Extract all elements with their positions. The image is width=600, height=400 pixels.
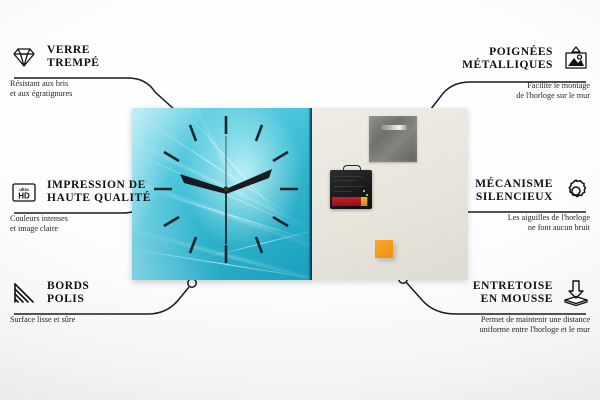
feature-bords-polis: BORDS POLIS Surface lisse et sûre — [10, 276, 200, 325]
feature-subtitle: Couleurs intenses et image claire — [10, 214, 200, 234]
polished-edge-icon — [10, 279, 38, 307]
feature-mecanisme-silencieux: MÉCANISME SILENCIEUX Les aiguilles de l'… — [400, 174, 590, 233]
metal-handle-part — [369, 116, 417, 162]
feature-subtitle: Les aiguilles de l'horloge ne font aucun… — [400, 213, 590, 233]
feature-subtitle: Surface lisse et sûre — [10, 315, 200, 325]
feature-title: IMPRESSION DE HAUTE QUALITÉ — [47, 179, 151, 206]
feature-subtitle: Permet de maintenir une distance uniform… — [400, 315, 590, 335]
feature-entretoise-en-mousse: ENTRETOISE EN MOUSSE Permet de maintenir… — [400, 276, 590, 335]
feature-impression-haute-qualite: ultra HD IMPRESSION DE HAUTE QUALITÉ Cou… — [10, 175, 200, 234]
diamond-icon — [10, 43, 38, 71]
feature-title: MÉCANISME SILENCIEUX — [475, 178, 553, 205]
feature-title: BORDS POLIS — [47, 280, 89, 307]
feature-subtitle: Résistant aux bris et aux égratignures — [10, 79, 200, 99]
product-feature-infographic: VERRE TREMPÉ Résistant aux bris et aux é… — [0, 0, 600, 400]
feature-poignees-metalliques: POIGNÉES MÉTALLIQUES Facilite le montage… — [400, 42, 590, 101]
clock-minute-hand — [226, 169, 272, 194]
feature-title: VERRE TREMPÉ — [47, 44, 100, 71]
svg-text:HD: HD — [18, 192, 30, 201]
clock-center-cap — [223, 186, 228, 191]
ultra-hd-badge-icon: ultra HD — [10, 178, 38, 206]
battery-part — [332, 197, 368, 206]
gear-icon — [562, 177, 590, 205]
mechanism-box-part — [330, 165, 372, 209]
feature-title: ENTRETOISE EN MOUSSE — [473, 280, 553, 307]
feature-title: POIGNÉES MÉTALLIQUES — [462, 46, 553, 73]
foam-spacer-part — [375, 240, 393, 258]
feature-verre-trempe: VERRE TREMPÉ Résistant aux bris et aux é… — [10, 40, 200, 99]
feature-subtitle: Facilite le montage de l'horloge sur le … — [400, 81, 590, 101]
arrow-down-to-pad-icon — [562, 279, 590, 307]
framed-picture-icon — [562, 45, 590, 73]
